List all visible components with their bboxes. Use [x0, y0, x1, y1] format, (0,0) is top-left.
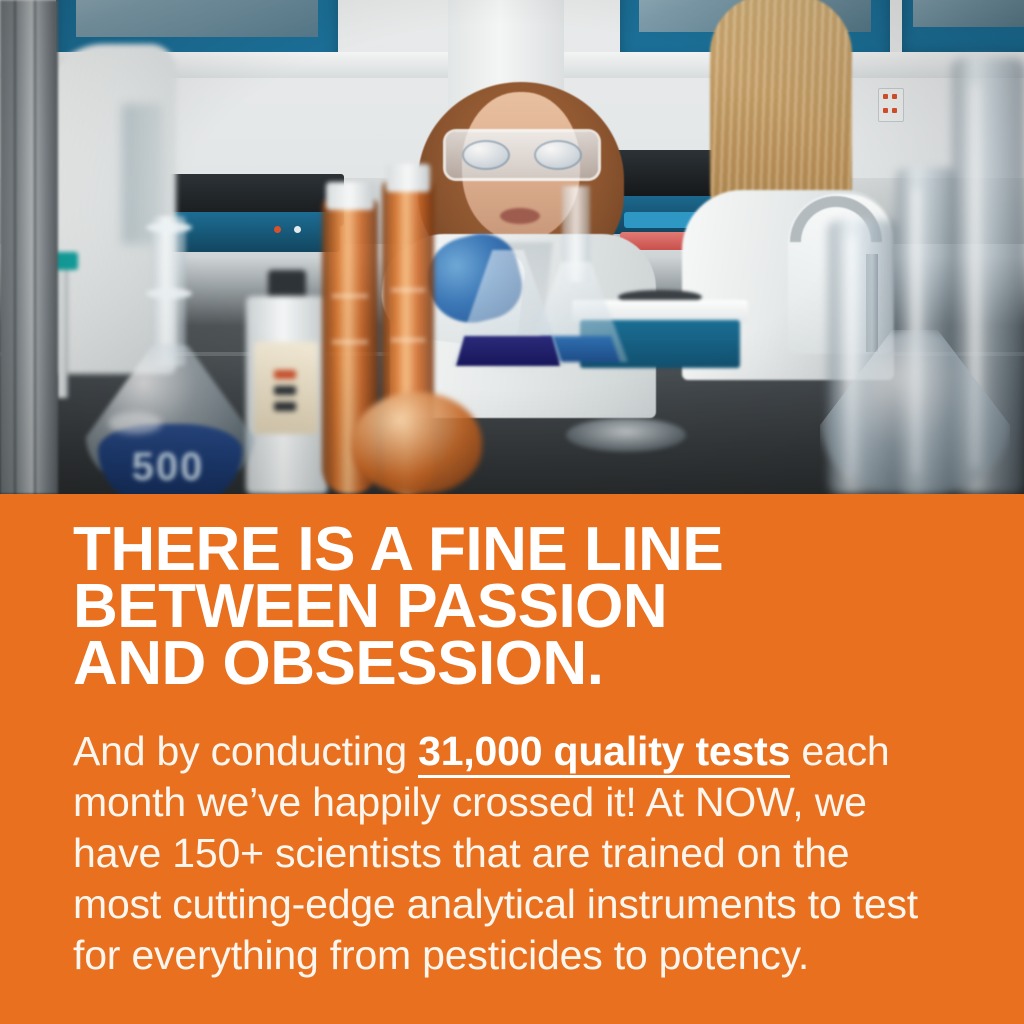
headline-line-1: THERE IS A FINE LINE — [73, 521, 953, 578]
volumetric-flask-500ml: 500 — [86, 216, 254, 494]
laboratory-photo: 500 — [0, 0, 1024, 494]
flask-bulb — [352, 392, 482, 494]
wall-cabinet-far-right — [902, 0, 1024, 54]
amber-round-flask — [352, 392, 482, 494]
petri-dish — [566, 418, 686, 452]
structural-post-left — [0, 0, 58, 494]
body-text-before: And by conducting — [73, 728, 418, 774]
label-mark — [274, 402, 296, 411]
flask-highlight — [108, 412, 162, 434]
graduation-mark — [391, 338, 424, 342]
graduation-mark — [332, 340, 368, 344]
headline-line-3: AND OBSESSION. — [73, 635, 953, 692]
flask-liquid — [456, 336, 560, 366]
highlight-quality-tests: 31,000 quality tests — [418, 728, 790, 778]
graduation-mark — [391, 288, 424, 292]
cabinet-glass — [913, 0, 1024, 27]
goggle-lens-right — [534, 140, 582, 170]
flask-ring — [146, 288, 192, 299]
graduation-mark — [332, 294, 368, 298]
flask-volume-label: 500 — [116, 444, 220, 490]
label-mark — [274, 386, 296, 395]
headline-line-2: BETWEEN PASSION — [73, 578, 953, 635]
post-seam — [14, 0, 16, 494]
promo-graphic: 500 THERE IS A — [0, 0, 1024, 1024]
body-paragraph: And by conducting 31,000 quality tests e… — [73, 726, 939, 981]
cylinder-cap — [386, 164, 430, 192]
instrument-led — [274, 226, 281, 233]
safety-goggles — [446, 132, 598, 178]
cylinder-cap — [326, 182, 373, 210]
headline: THERE IS A FINE LINE BETWEEN PASSION AND… — [73, 521, 953, 692]
goggle-lens-left — [462, 140, 510, 170]
label-mark — [274, 370, 296, 379]
reagent-bottle — [246, 270, 328, 494]
cabinet-glass — [76, 0, 319, 37]
flask-ring — [146, 222, 192, 233]
erlenmeyer-flask-in-hand — [452, 250, 564, 366]
orange-message-panel: THERE IS A FINE LINE BETWEEN PASSION AND… — [0, 494, 1024, 1024]
post-seam — [34, 0, 36, 494]
instrument-led — [294, 226, 301, 233]
